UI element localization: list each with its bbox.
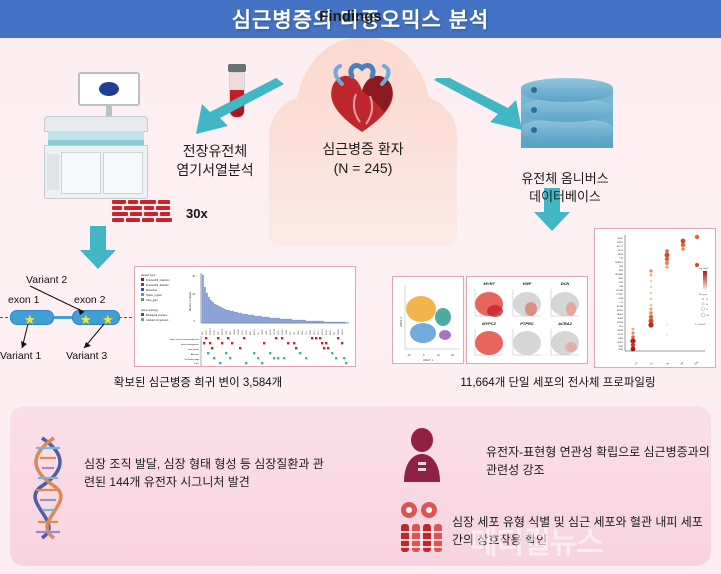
gene-expression-dotplot: MYH7TNNT2ACTC1 MYL2NPPATTN MYBPC3DESVWF … xyxy=(594,228,716,368)
svg-text:UMAP_2: UMAP_2 xyxy=(399,316,403,327)
gene-feature-plots: MYH7VWFDCN MYPC2PTPRCACRA2 xyxy=(466,276,588,364)
caption-left: 확보된 심근병증 희귀 변이 3,584개 xyxy=(48,374,348,390)
svg-text:ACRA2: ACRA2 xyxy=(557,321,573,326)
svg-text:TPM1: TPM1 xyxy=(278,330,280,335)
svg-text:P = 3.0e-05: P = 3.0e-05 xyxy=(695,324,706,326)
caption-right: 11,664개 단일 세포의 전사체 프로파일링 xyxy=(398,374,718,390)
svg-text:SCN5A: SCN5A xyxy=(237,328,240,335)
svg-text:LDB3: LDB3 xyxy=(618,338,623,340)
svg-text:TNNT2: TNNT2 xyxy=(617,242,623,244)
finding-text-2: 유전자-표현형 연관성 확립으로 심근병증과의 관련성 강조 xyxy=(486,443,716,479)
svg-text:PTPRC: PTPRC xyxy=(520,321,534,326)
svg-text:avg_logFC: avg_logFC xyxy=(699,268,709,270)
svg-text:MYPC2: MYPC2 xyxy=(482,321,497,326)
svg-text:ACTA2: ACTA2 xyxy=(617,305,623,308)
person-icon xyxy=(398,428,446,482)
wgs-label-line2: 염기서열분석 xyxy=(150,161,280,180)
svg-text:PTPRC: PTPRC xyxy=(617,294,624,296)
heart-icon xyxy=(322,60,402,138)
svg-text:RGS5: RGS5 xyxy=(618,318,623,320)
database-label-line1: 유전체 옴니버스 xyxy=(490,170,640,188)
svg-text:MYBPC3: MYBPC3 xyxy=(615,262,623,264)
patient-label: 심근병증 환자 (N = 245) xyxy=(300,140,426,178)
database-label: 유전체 옴니버스 데이터베이스 xyxy=(490,170,640,205)
svg-text:NPPA: NPPA xyxy=(618,253,624,256)
svg-text:DCN: DCN xyxy=(619,282,624,284)
svg-text:OBSCN: OBSCN xyxy=(222,328,224,335)
svg-text:PECAM1: PECAM1 xyxy=(615,273,623,276)
database-cylinder-icon xyxy=(521,78,613,162)
svg-text:PLN: PLN xyxy=(619,326,623,328)
svg-text:Number of variants: Number of variants xyxy=(189,291,192,311)
findings-title: Findings xyxy=(0,8,701,25)
svg-text:MYOM1: MYOM1 xyxy=(274,329,276,335)
svg-text:TAGLN: TAGLN xyxy=(617,313,624,316)
svg-text:TNNI3: TNNI3 xyxy=(310,330,312,335)
svg-text:-10: -10 xyxy=(407,353,411,357)
svg-text:CDH5: CDH5 xyxy=(618,278,623,280)
svg-text:Adherens: Adherens xyxy=(191,353,199,356)
svg-text:CSRP3: CSRP3 xyxy=(282,329,284,335)
svg-text:TNNT2: TNNT2 xyxy=(262,330,264,335)
svg-text:Missense: Missense xyxy=(146,288,158,292)
sequencing-reads-icon xyxy=(112,200,182,230)
svg-text:UMAP_1: UMAP_1 xyxy=(423,358,434,362)
svg-text:VCL: VCL xyxy=(258,332,260,335)
svg-text:Heart growth: Heart growth xyxy=(188,348,199,351)
database-label-line2: 데이터베이스 xyxy=(490,188,640,206)
svg-text:CD68: CD68 xyxy=(618,298,623,300)
svg-text:LUM: LUM xyxy=(619,286,623,288)
svg-text:Stop_gain: Stop_gain xyxy=(146,298,158,302)
watermark: 메디컬뉴스 xyxy=(470,518,720,564)
svg-text:MYBPC3: MYBPC3 xyxy=(210,328,212,335)
svg-text:MYH7: MYH7 xyxy=(206,330,208,335)
arrow-sequencing-to-variants xyxy=(78,226,118,275)
svg-text:100: 100 xyxy=(706,315,709,317)
svg-text:FLNC: FLNC xyxy=(618,334,624,336)
svg-text:FLNC: FLNC xyxy=(226,330,228,335)
svg-text:PKP2: PKP2 xyxy=(242,331,244,335)
svg-text:Frameshift_deletion: Frameshift_deletion xyxy=(146,283,169,287)
arrow-patient-to-database xyxy=(432,78,532,139)
svg-text:CAV3: CAV3 xyxy=(301,331,304,335)
svg-text:KCNJ8: KCNJ8 xyxy=(617,322,623,324)
svg-text:TPM1: TPM1 xyxy=(618,349,623,351)
svg-text:Heart morphogenesis: Heart morphogenesis xyxy=(181,343,199,346)
svg-text:25: 25 xyxy=(706,299,708,301)
svg-text:Variant Type: Variant Type xyxy=(141,273,156,277)
svg-text:ACTC1: ACTC1 xyxy=(321,329,324,335)
svg-text:VWF: VWF xyxy=(523,281,532,286)
svg-text:BAG3: BAG3 xyxy=(329,330,332,335)
svg-text:75: 75 xyxy=(706,309,708,311)
svg-text:Biological process: Biological process xyxy=(146,313,168,317)
svg-text:DCN: DCN xyxy=(561,281,570,286)
svg-text:LDB3: LDB3 xyxy=(266,331,268,335)
cells-icon xyxy=(396,500,446,556)
variant-burden-oncoprint: Variant Type Frameshift_insertion Frames… xyxy=(134,266,356,367)
svg-text:TCAP: TCAP xyxy=(618,345,624,348)
svg-text:50: 50 xyxy=(706,304,708,306)
svg-text:NEXN: NEXN xyxy=(618,330,624,332)
svg-text:MYH7: MYH7 xyxy=(483,281,495,286)
svg-text:LAMA2: LAMA2 xyxy=(233,329,236,335)
svg-text:NEXN: NEXN xyxy=(326,330,328,335)
svg-text:MYH7: MYH7 xyxy=(618,238,623,240)
svg-text:Pct_expr: Pct_expr xyxy=(699,293,707,296)
svg-text:MYL3: MYL3 xyxy=(318,331,320,335)
svg-text:Splice_region: Splice_region xyxy=(146,293,162,297)
gene-variant-diagram: ★ ★ ★ exon 1 exon 2 Variant 2 Variant 1 … xyxy=(0,272,132,368)
coverage-label: 30x xyxy=(186,206,208,221)
svg-text:Cell leading edge: Cell leading edge xyxy=(184,359,199,361)
svg-text:CSRP3: CSRP3 xyxy=(617,342,623,344)
svg-text:ACTN2: ACTN2 xyxy=(269,329,272,335)
finding-text-1: 심장 조직 발달, 심장 형태 형성 등 심장질환과 관련된 144개 유전자 … xyxy=(84,455,334,491)
svg-text:MYH11: MYH11 xyxy=(617,310,623,312)
dna-helix-icon xyxy=(24,436,72,540)
svg-text:LAMP2: LAMP2 xyxy=(341,329,344,335)
dna-sequencer-icon xyxy=(38,72,148,202)
wgs-label-line1: 전장유전체 xyxy=(150,142,280,161)
svg-text:Gene ontology: Gene ontology xyxy=(141,308,159,312)
svg-text:TTN: TTN xyxy=(619,258,623,260)
svg-text:ACTC1: ACTC1 xyxy=(617,245,623,248)
svg-text:COL1A1: COL1A1 xyxy=(616,289,623,292)
patient-label-text: 심근병증 환자 xyxy=(300,140,426,159)
svg-text:Frameshift_insertion: Frameshift_insertion xyxy=(146,278,170,282)
wgs-label: 전장유전체 염기서열분석 xyxy=(150,142,280,180)
svg-text:RBM20: RBM20 xyxy=(338,329,340,335)
svg-text:Z disc: Z disc xyxy=(194,363,199,365)
infographic-canvas: 심근병증의 다중오믹스 분석 30x xyxy=(0,0,721,574)
svg-text:Cellular component: Cellular component xyxy=(146,318,169,322)
patient-count: (N = 245) xyxy=(300,159,426,178)
svg-text:RYR2: RYR2 xyxy=(214,330,216,335)
svg-text:MYL2: MYL2 xyxy=(314,331,316,335)
svg-text:Cardiac muscle tissue developm: Cardiac muscle tissue development xyxy=(169,338,199,341)
svg-text:MYL2: MYL2 xyxy=(618,250,623,252)
arrow-patient-to-sequencing xyxy=(180,78,290,145)
umap-cluster-plot: -1001020 UMAP_2 UMAP_1 xyxy=(392,276,464,364)
svg-text:MYH6: MYH6 xyxy=(246,330,248,335)
svg-text:ABCC9: ABCC9 xyxy=(253,329,256,335)
